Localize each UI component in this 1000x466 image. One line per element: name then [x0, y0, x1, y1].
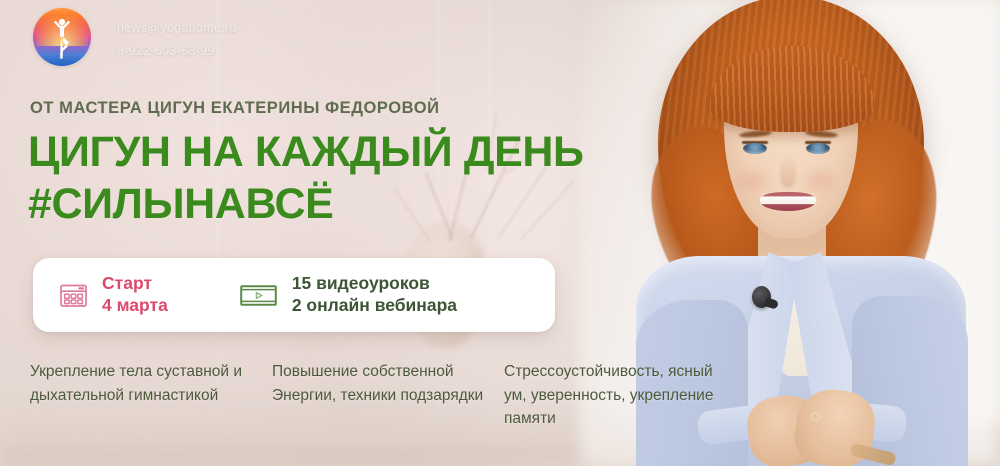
contact-phone[interactable]: 8-922-603-63-99: [117, 44, 237, 58]
lessons-text: 15 видеоуроков 2 онлайн вебинара: [292, 273, 457, 316]
benefits-list: Укрепление тела суставной и дыхательной …: [30, 360, 730, 431]
hero-banner: news@yogahome.ru 8-922-603-63-99 ОТ МАСТ…: [0, 0, 1000, 466]
course-info-card: Старт 4 марта 15 видеоуроков 2 онлайн ве…: [33, 258, 555, 332]
start-date-value: 4 марта: [102, 295, 168, 317]
headline-line-2: #СИЛЫНАВСЁ: [28, 178, 584, 230]
start-label: Старт: [102, 273, 168, 295]
contact-info: news@yogahome.ru 8-922-603-63-99: [117, 17, 237, 58]
page-title: ЦИГУН НА КАЖДЫЙ ДЕНЬ #СИЛЫНАВСЁ: [28, 126, 584, 231]
video-lessons-count: 15 видеоуроков: [292, 273, 457, 295]
benefit-item: Укрепление тела суставной и дыхательной …: [30, 360, 272, 431]
start-date-item: Старт 4 марта: [60, 273, 168, 316]
headline-line-1: ЦИГУН НА КАЖДЫЙ ДЕНЬ: [28, 128, 584, 176]
header-bar: news@yogahome.ru 8-922-603-63-99: [33, 8, 237, 66]
contact-email[interactable]: news@yogahome.ru: [117, 21, 237, 35]
benefit-item: Стрессоустойчивость, ясный ум, увереннос…: [504, 360, 719, 431]
calendar-icon: [60, 283, 87, 308]
start-date-text: Старт 4 марта: [102, 273, 168, 316]
yoga-figure-icon: [49, 17, 75, 61]
webinars-count: 2 онлайн вебинара: [292, 295, 457, 317]
video-player-icon: [240, 283, 277, 308]
benefit-item: Повышение собственной Энергии, техники п…: [272, 360, 504, 431]
yoga-figure-circle-logo-icon[interactable]: [33, 8, 91, 66]
hero-content: news@yogahome.ru 8-922-603-63-99 ОТ МАСТ…: [0, 0, 1000, 466]
lessons-item: 15 видеоуроков 2 онлайн вебинара: [240, 273, 457, 316]
hero-eyebrow: ОТ МАСТЕРА ЦИГУН ЕКАТЕРИНЫ ФЕДОРОВОЙ: [30, 99, 440, 118]
